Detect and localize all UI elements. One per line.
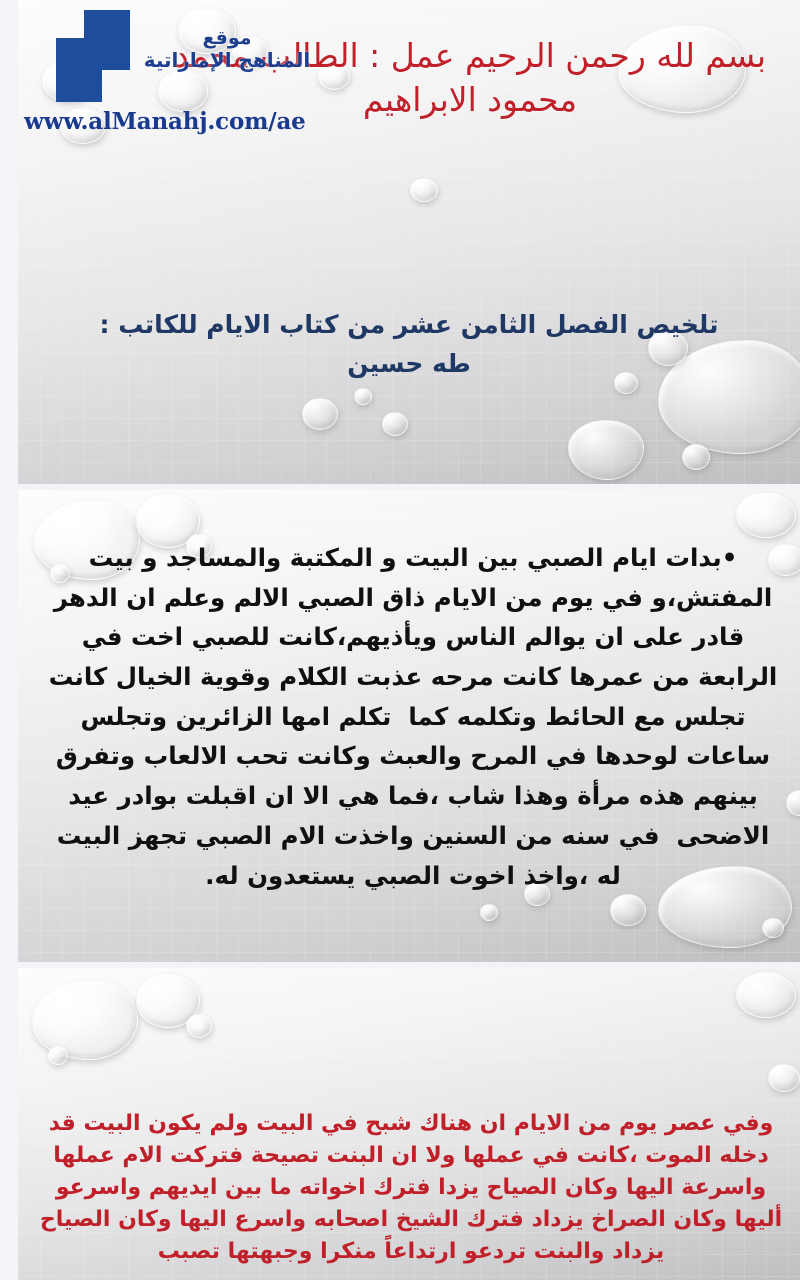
- water-drop-icon: [186, 1014, 212, 1038]
- water-drop-icon: [48, 1046, 68, 1065]
- water-drop-icon: [410, 178, 438, 202]
- water-drop-icon: [32, 980, 138, 1060]
- water-drop-icon: [786, 790, 800, 816]
- water-drop-icon: [136, 974, 200, 1028]
- slide-title: بسم لله رحمن الرحيم عمل : الطالب محمد مح…: [18, 0, 800, 484]
- slide-body-text: وفي عصر يوم من الايام ان هناك شبح في الب…: [38, 1108, 784, 1267]
- water-drop-icon: [382, 412, 408, 436]
- slide-continuation: وفي عصر يوم من الايام ان هناك شبح في الب…: [18, 968, 800, 1280]
- slide-subtitle: تلخيص الفصل الثامن عشر من كتاب الايام لل…: [78, 306, 740, 384]
- watermark: موقع المناهج الإماراتية www.alManahj.com…: [18, 0, 348, 150]
- water-drop-icon: [736, 972, 796, 1018]
- watermark-line-1: موقع: [202, 27, 251, 49]
- slide-summary: •بدات ايام الصبي بين البيت و المكتبة وال…: [18, 490, 800, 962]
- water-drop-icon: [568, 420, 644, 480]
- watermark-line-2: المناهج الإماراتية: [114, 49, 340, 71]
- watermark-url[interactable]: www.alManahj.com/ae: [24, 108, 324, 135]
- water-drop-icon: [354, 388, 372, 405]
- water-drop-icon: [682, 444, 710, 470]
- slide-deck: بسم لله رحمن الرحيم عمل : الطالب محمد مح…: [0, 0, 800, 1280]
- watermark-site-label: موقع المناهج الإماراتية: [114, 28, 340, 72]
- water-drop-icon: [480, 904, 498, 921]
- slide-body-text: •بدات ايام الصبي بين البيت و المكتبة وال…: [42, 538, 784, 895]
- water-drop-icon: [762, 918, 784, 938]
- water-drop-icon: [302, 398, 338, 430]
- water-drop-icon: [736, 492, 796, 538]
- water-drop-icon: [768, 1064, 800, 1092]
- water-drop-icon: [610, 894, 646, 926]
